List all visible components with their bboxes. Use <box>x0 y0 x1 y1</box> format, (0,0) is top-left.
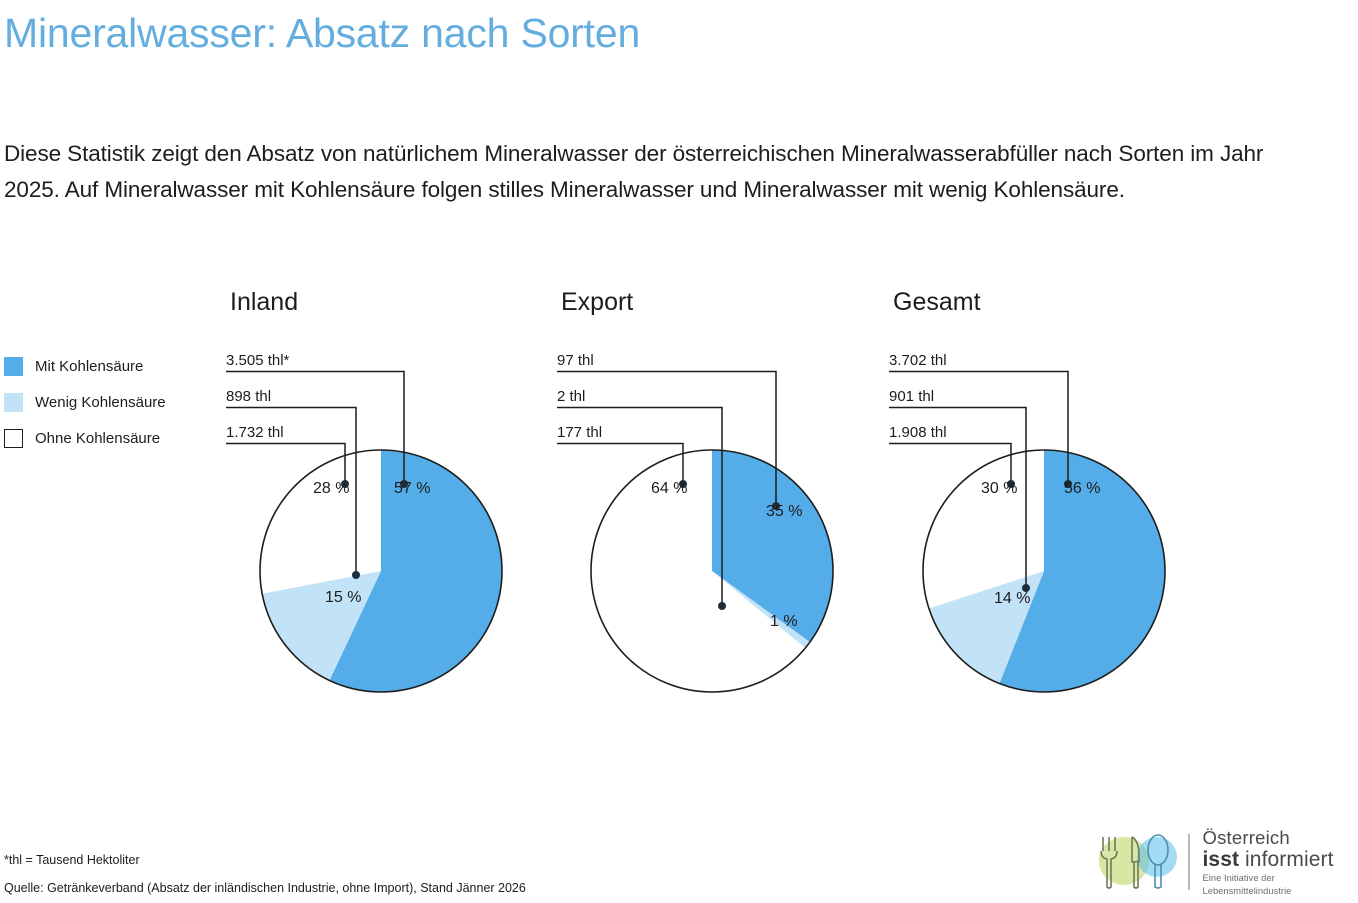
footnote-thl: *thl = Tausend Hektoliter <box>4 853 140 867</box>
logo: Österreich isst informiert Eine Initiati… <box>1094 828 1356 896</box>
percent-label-gesamt-0: 56 % <box>1064 480 1100 498</box>
value-label-gesamt-2: 1.908 thl <box>889 424 947 442</box>
percent-label-gesamt-1: 14 % <box>994 590 1030 608</box>
logo-line-oesterreich: Österreich <box>1203 827 1357 848</box>
chart-panel-gesamt: Gesamt3.702 thl901 thl1.908 thl56 %14 %3… <box>0 0 340 903</box>
logo-isst-bold: isst <box>1203 848 1240 871</box>
logo-line-tagline: Eine Initiative der Lebensmittelindustri… <box>1203 872 1357 898</box>
cutlery-icon-group <box>1094 831 1180 893</box>
logo-line-isst-informiert: isst informiert <box>1203 848 1357 872</box>
logo-informiert: informiert <box>1239 848 1333 871</box>
footnote-source: Quelle: Getränkeverband (Absatz der inlä… <box>4 881 526 895</box>
blue-blob-decoration <box>1137 837 1177 877</box>
value-label-gesamt-0: 3.702 thl <box>889 352 947 370</box>
percent-label-gesamt-2: 30 % <box>981 480 1017 498</box>
logo-text: Österreich isst informiert Eine Initiati… <box>1203 827 1357 898</box>
logo-divider <box>1188 834 1190 890</box>
value-label-gesamt-1: 901 thl <box>889 388 934 406</box>
pie-gesamt <box>0 0 1358 903</box>
